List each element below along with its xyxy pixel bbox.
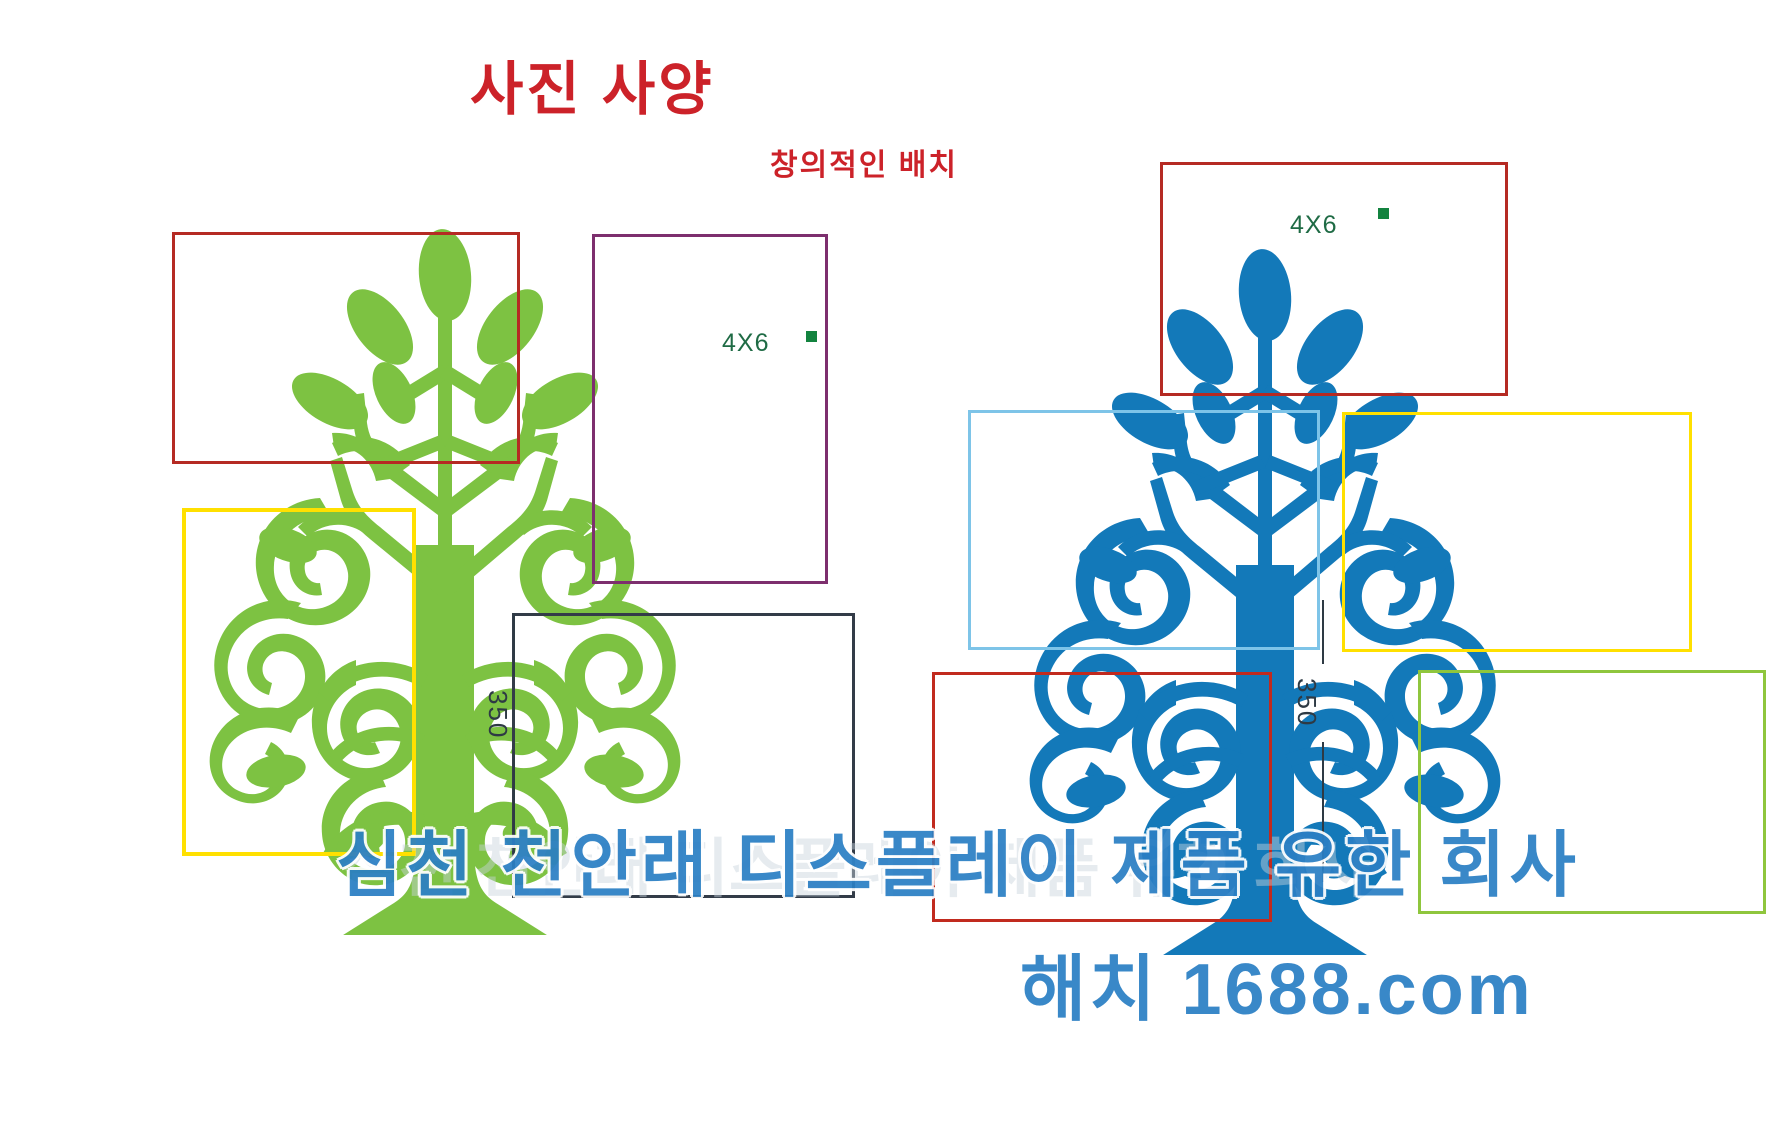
green-swatch-left-icon <box>806 331 817 342</box>
height-tick-left-icon <box>513 613 515 676</box>
watermark-company-name: 심천 천안래 디스플레이 제품 유한 회사 <box>336 806 1580 911</box>
right-yellow-crop-box[interactable] <box>1342 412 1692 652</box>
height-label-right: 350 <box>1291 678 1322 727</box>
page-subtitle: 창의적인 배치 <box>770 140 958 184</box>
height-label-left: 350 <box>482 690 513 739</box>
slide-canvas: 4X6 4X6 350 350 사진 사양 창의적인 배치 심천 천안래 디스플… <box>0 0 1782 1121</box>
left-purple-crop-box[interactable] <box>592 234 828 584</box>
right-red-crop-box[interactable] <box>1160 162 1508 396</box>
page-title: 사진 사양 <box>470 42 715 126</box>
size-label-right: 4X6 <box>1290 211 1337 240</box>
left-red-crop-box[interactable] <box>172 232 520 464</box>
right-lightblue-crop-box[interactable] <box>968 410 1320 650</box>
left-yellow-crop-box[interactable] <box>182 508 416 856</box>
green-swatch-right-icon <box>1378 208 1389 219</box>
size-label-left: 4X6 <box>722 329 769 358</box>
height-tick-right-icon <box>1322 600 1324 664</box>
watermark-site: 해치 1688.com <box>1020 930 1534 1035</box>
